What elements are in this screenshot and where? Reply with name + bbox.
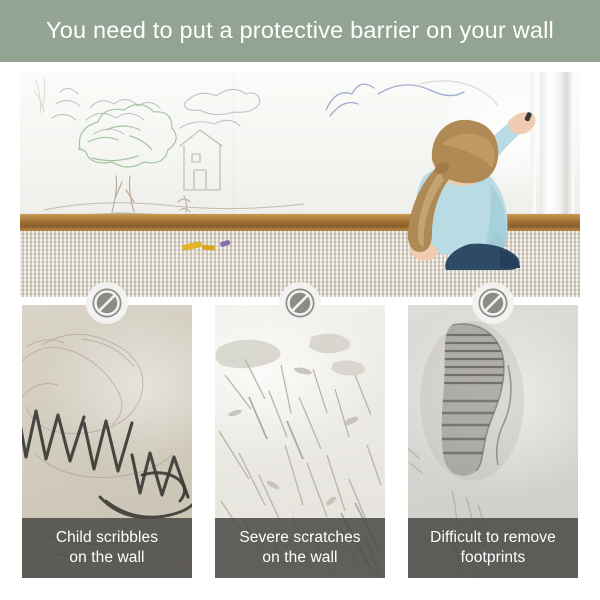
panel-caption: Child scribbles on the wall [22,518,192,578]
panel-child-scribbles: Child scribbles on the wall [22,305,192,578]
prohibition-icon [85,281,129,325]
panel-caption-text: Severe scratches on the wall [239,528,360,569]
caption-line-1: Child scribbles [56,529,158,546]
caption-line-1: Difficult to remove [430,529,556,546]
panel-caption: Severe scratches on the wall [215,518,385,578]
caption-line-2: on the wall [262,549,337,566]
panel-caption-text: Child scribbles on the wall [56,528,158,569]
panel-caption-text: Difficult to remove footprints [430,528,556,569]
panel-severe-scratches: Severe scratches on the wall [215,305,385,578]
hero-image [20,72,580,297]
girl-figure [350,110,565,270]
crayons-on-floor [180,236,250,256]
panel-caption: Difficult to remove footprints [408,518,578,578]
header-bar: You need to put a protective barrier on … [0,0,600,62]
panel-difficult-footprints: Difficult to remove footprints [408,305,578,578]
problem-panels: Child scribbles on the wall [0,305,600,580]
prohibition-icon [471,281,515,325]
page-title: You need to put a protective barrier on … [46,19,554,43]
caption-line-2: footprints [461,549,526,566]
caption-line-2: on the wall [69,549,144,566]
promo-banner: You need to put a protective barrier on … [0,0,600,600]
prohibition-icon [278,281,322,325]
caption-line-1: Severe scratches [239,529,360,546]
